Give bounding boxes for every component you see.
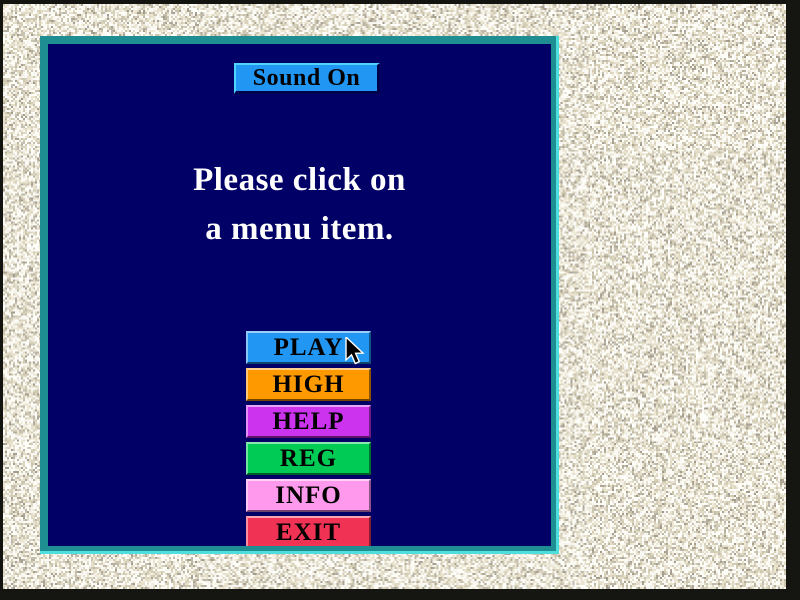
app-stage: Sound On Please click on a menu item. PL… bbox=[0, 0, 800, 600]
menu-item-label: HELP bbox=[272, 408, 344, 435]
menu-item-exit[interactable]: EXIT bbox=[246, 516, 371, 546]
window-edge-top bbox=[0, 0, 800, 4]
menu-item-label: INFO bbox=[275, 482, 342, 509]
menu-item-label: PLAY bbox=[274, 334, 344, 361]
game-panel: Sound On Please click on a menu item. PL… bbox=[40, 36, 559, 554]
window-edge-right bbox=[786, 0, 800, 600]
menu-item-label: REG bbox=[280, 445, 337, 472]
window-edge-left bbox=[0, 0, 3, 600]
game-panel-inner: Sound On Please click on a menu item. PL… bbox=[48, 44, 551, 546]
window-edge-bottom bbox=[0, 589, 800, 600]
prompt-line-2: a menu item. bbox=[48, 205, 551, 254]
menu-item-high[interactable]: HIGH bbox=[246, 368, 371, 401]
menu-item-play[interactable]: PLAY bbox=[246, 331, 371, 364]
menu-item-help[interactable]: HELP bbox=[246, 405, 371, 438]
prompt-line-1: Please click on bbox=[48, 156, 551, 205]
menu-item-reg[interactable]: REG bbox=[246, 442, 371, 475]
prompt-text: Please click on a menu item. bbox=[48, 156, 551, 254]
menu-item-info[interactable]: INFO bbox=[246, 479, 371, 512]
sound-toggle-button[interactable]: Sound On bbox=[234, 63, 380, 94]
menu-item-label: HIGH bbox=[272, 371, 344, 398]
main-menu: PLAYHIGHHELPREGINFOEXIT bbox=[246, 331, 371, 546]
menu-item-label: EXIT bbox=[276, 519, 341, 546]
